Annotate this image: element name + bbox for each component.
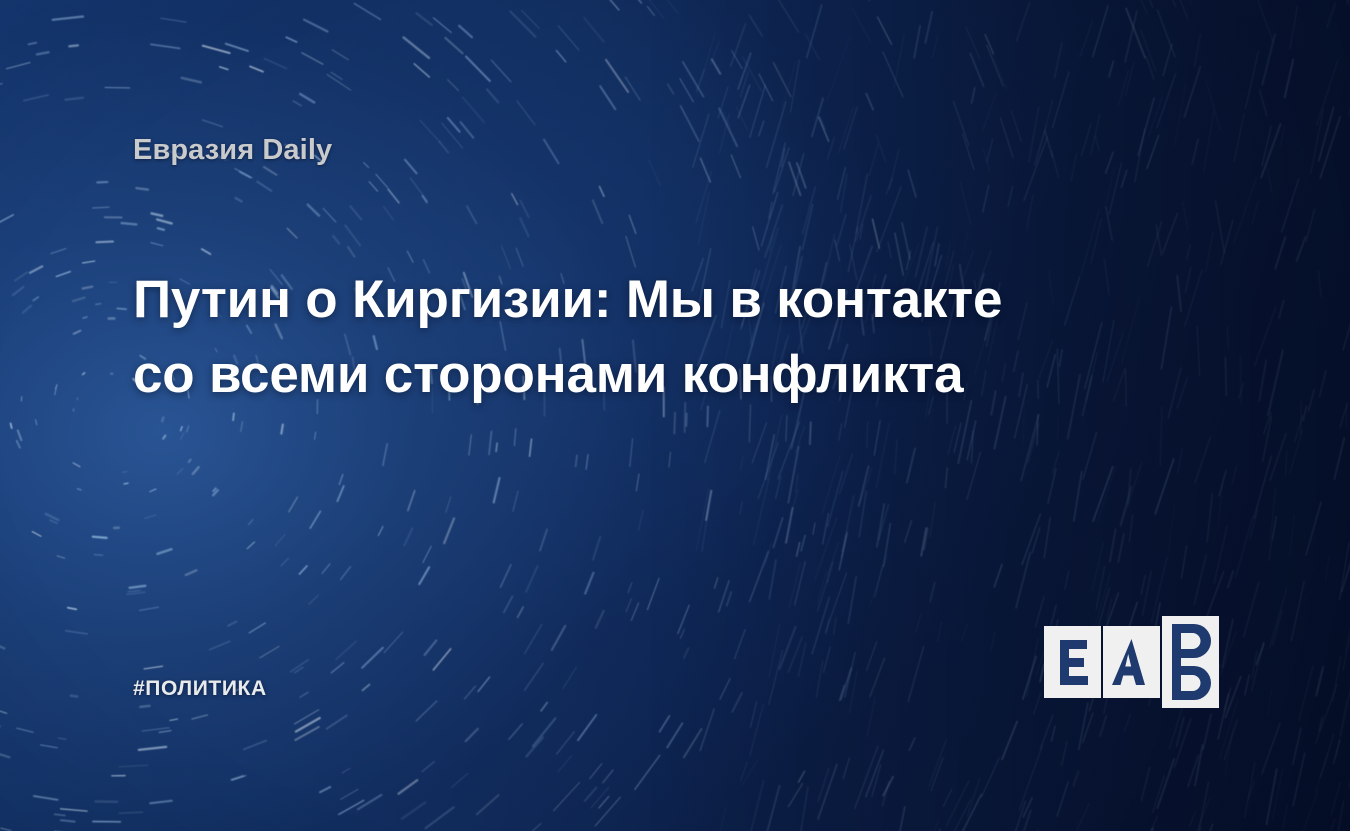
logo-tile-d-lower bbox=[1162, 662, 1219, 708]
card-content: Евразия Daily Путин о Киргизии: Мы в кон… bbox=[0, 0, 1350, 831]
ead-logo[interactable] bbox=[1044, 616, 1224, 708]
social-share-card: Евразия Daily Путин о Киргизии: Мы в кон… bbox=[0, 0, 1350, 831]
logo-tile-e bbox=[1044, 626, 1101, 698]
headline-text: Путин о Киргизии: Мы в контакте со всеми… bbox=[133, 262, 1073, 413]
brand-wordmark[interactable]: Евразия Daily bbox=[133, 134, 332, 167]
logo-tile-a bbox=[1103, 626, 1160, 698]
category-hashtag[interactable]: #ПОЛИТИКА bbox=[133, 677, 267, 701]
logo-tile-d-upper bbox=[1162, 616, 1219, 662]
